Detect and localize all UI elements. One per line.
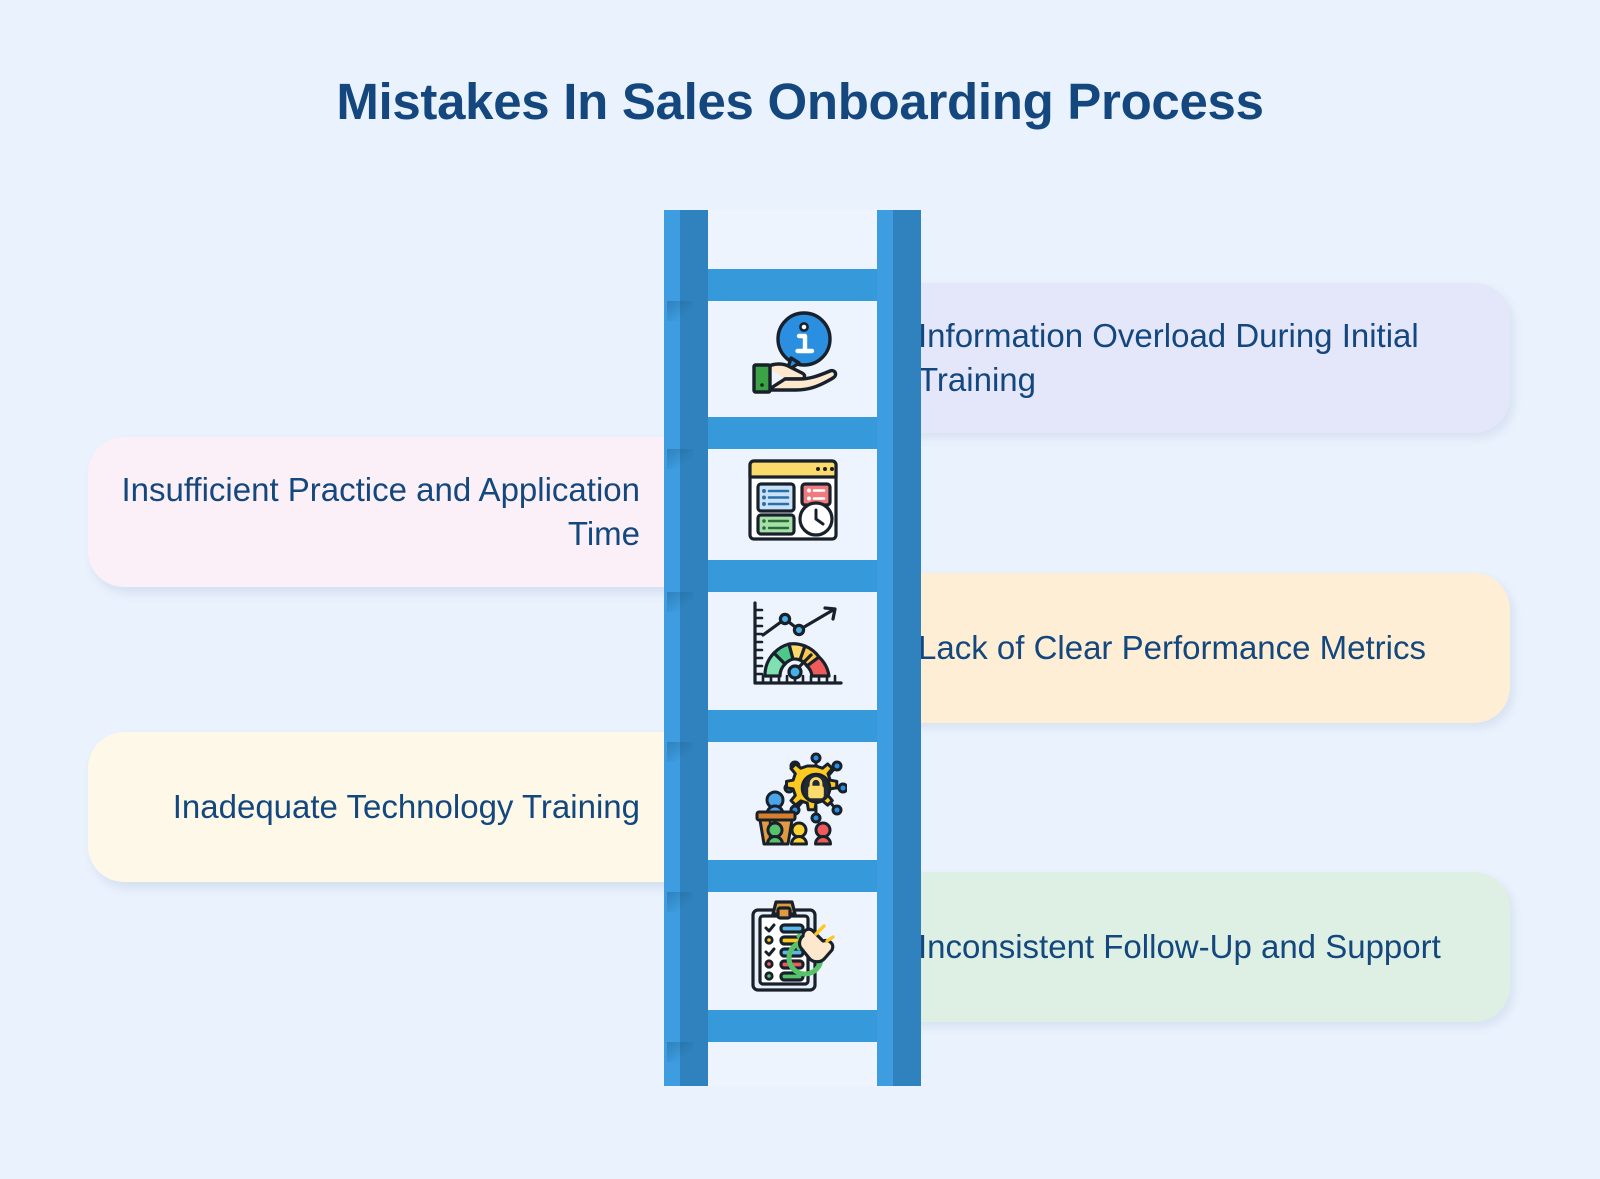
item-label-3: Lack of Clear Performance Metrics [918,626,1426,670]
rail-highlight [664,210,680,1086]
tech-training-gear-lock-icon [739,750,847,846]
page-title: Mistakes In Sales Onboarding Process [0,72,1600,131]
ladder-cell [708,1018,878,1086]
icon-slot-1 [708,300,878,410]
item-card-1[interactable]: Information Overload During Initial Trai… [878,283,1510,433]
icon-slot-4 [708,748,878,848]
item-card-5[interactable]: Inconsistent Follow-Up and Support [878,872,1510,1022]
icon-slot-3 [708,595,878,695]
item-card-4[interactable]: Inadequate Technology Training [88,732,684,882]
rail-shade [680,210,708,1086]
item-card-2[interactable]: Insufficient Practice and Application Ti… [88,437,684,587]
icon-slot-2 [708,450,878,550]
item-label-4: Inadequate Technology Training [173,785,640,829]
hand-holding-info-bubble-icon [738,305,848,405]
ladder-cell [708,210,878,285]
item-label-2: Insufficient Practice and Application Ti… [88,468,640,555]
performance-gauge-chart-icon [741,597,845,693]
item-label-1: Information Overload During Initial Trai… [918,314,1510,401]
ladder-rung-shadow [667,592,693,612]
icon-slot-5 [708,893,878,998]
infographic-canvas: Mistakes In Sales Onboarding Process Inf… [0,0,1600,1179]
browser-checklist-clock-icon [744,455,842,545]
ladder-left-rail [664,210,708,1086]
ladder-rung-shadow [667,301,693,321]
item-card-3[interactable]: Lack of Clear Performance Metrics [878,573,1510,723]
ladder-rung-shadow [667,1042,693,1062]
clipboard-followup-hand-icon [743,896,843,996]
ladder-rung-shadow [667,892,693,912]
item-label-5: Inconsistent Follow-Up and Support [918,925,1441,969]
